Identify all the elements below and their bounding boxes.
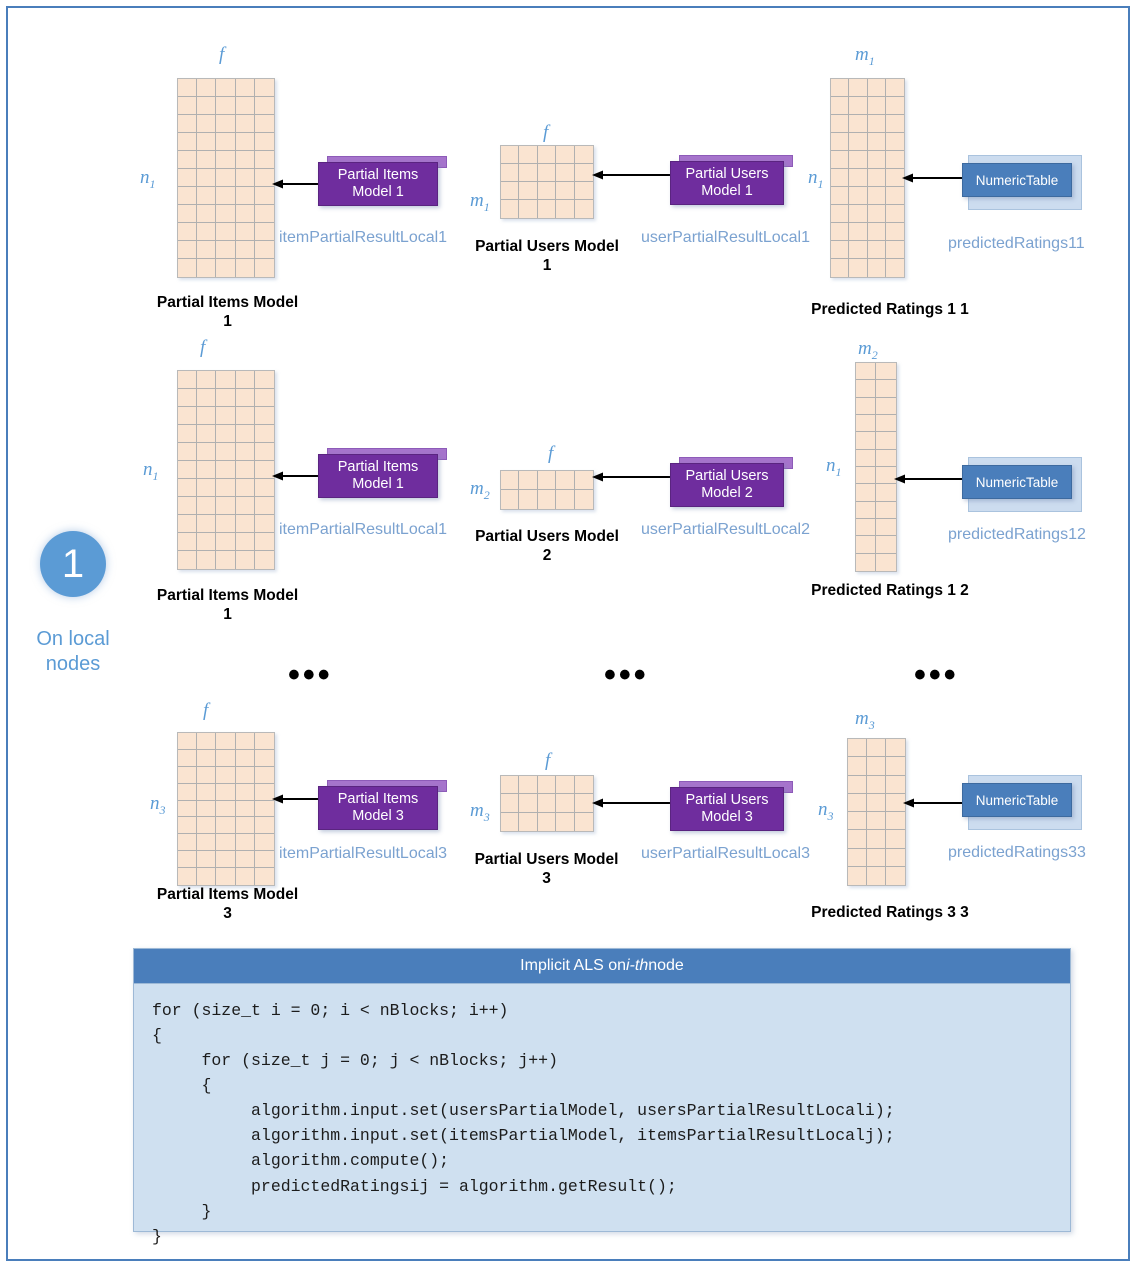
matrix-cell xyxy=(255,834,274,851)
matrix-predicted-ratings-3-3 xyxy=(847,738,906,886)
matrix-cell xyxy=(876,484,896,501)
varlabel-userpartialresultlocal2: userPartialResultLocal2 xyxy=(641,521,810,539)
matrix-cell xyxy=(236,151,255,169)
dim-label-f-users-3: f xyxy=(545,750,550,772)
matrix-cell xyxy=(216,784,235,801)
matrix-cell xyxy=(216,223,235,241)
matrix-cell xyxy=(848,794,867,812)
box-partial-users-model-2[interactable]: Partial Users Model 2 xyxy=(670,457,794,507)
matrix-cell xyxy=(197,750,216,767)
matrix-cell xyxy=(197,515,216,533)
matrix-cell xyxy=(848,757,867,775)
matrix-cell xyxy=(178,868,197,885)
step-badge-number: 1 xyxy=(62,542,84,587)
matrix-cell xyxy=(849,115,867,133)
matrix-cell xyxy=(856,554,876,571)
matrix-cell xyxy=(501,794,519,812)
matrix-cell xyxy=(178,259,197,277)
matrix-cell xyxy=(255,497,274,515)
box-label: Partial Users Model 1 xyxy=(670,161,784,205)
matrix-cell xyxy=(868,133,886,151)
matrix-cell xyxy=(856,536,876,553)
matrix-cell xyxy=(575,182,593,200)
matrix-cell xyxy=(867,830,886,848)
matrix-cell xyxy=(848,830,867,848)
matrix-cell xyxy=(178,187,197,205)
matrix-cell xyxy=(236,205,255,223)
box-partial-items-model-1[interactable]: Partial Items Model 1 xyxy=(318,156,448,206)
caption-partial-items-model-1: Partial Items Model 1 xyxy=(145,293,310,332)
box-numerictable-2[interactable]: NumericTable xyxy=(962,457,1082,512)
matrix-cell xyxy=(856,432,876,449)
matrix-cell xyxy=(236,767,255,784)
matrix-cell xyxy=(831,223,849,241)
matrix-cell xyxy=(831,187,849,205)
matrix-partial-items-model-3 xyxy=(177,732,275,886)
box-label: Partial Items Model 1 xyxy=(318,454,438,498)
matrix-cell xyxy=(856,380,876,397)
matrix-cell xyxy=(831,133,849,151)
arrow-items-1 xyxy=(272,178,320,190)
matrix-cell xyxy=(886,739,905,757)
matrix-cell xyxy=(236,389,255,407)
matrix-cell xyxy=(216,97,235,115)
matrix-cell xyxy=(236,733,255,750)
matrix-cell xyxy=(236,115,255,133)
dim-label-n3-ratings-3: n3 xyxy=(818,799,834,824)
matrix-cell xyxy=(538,794,556,812)
code-title-suffix: node xyxy=(648,957,684,975)
matrix-cell xyxy=(867,794,886,812)
matrix-cell xyxy=(178,205,197,223)
matrix-cell xyxy=(216,115,235,133)
matrix-cell xyxy=(216,801,235,818)
matrix-cell xyxy=(236,97,255,115)
matrix-cell xyxy=(501,146,519,164)
matrix-cell xyxy=(178,443,197,461)
box-partial-users-model-3[interactable]: Partial Users Model 3 xyxy=(670,781,794,831)
matrix-cell xyxy=(236,784,255,801)
matrix-cell xyxy=(197,443,216,461)
varlabel-userpartialresultlocal3: userPartialResultLocal3 xyxy=(641,845,810,863)
matrix-cell xyxy=(876,450,896,467)
matrix-cell xyxy=(556,200,574,218)
matrix-cell xyxy=(868,79,886,97)
matrix-cell xyxy=(216,79,235,97)
ellipsis-items: ••• xyxy=(288,658,333,692)
matrix-cell xyxy=(236,259,255,277)
matrix-cell xyxy=(236,241,255,259)
matrix-cell xyxy=(255,259,274,277)
caption-partial-users-model-2: Partial Users Model 2 xyxy=(468,527,626,566)
matrix-cell xyxy=(868,187,886,205)
code-block-body: for (size_t i = 0; i < nBlocks; i++) { f… xyxy=(134,984,1070,1259)
dim-label-m3-users-3: m3 xyxy=(470,800,490,825)
matrix-cell xyxy=(255,407,274,425)
matrix-cell xyxy=(501,471,519,490)
matrix-cell xyxy=(197,97,216,115)
matrix-cell xyxy=(216,497,235,515)
dim-label-n1-ratings-2: n1 xyxy=(826,455,842,480)
matrix-predicted-ratings-1-2 xyxy=(855,362,897,572)
matrix-cell xyxy=(197,371,216,389)
matrix-cell xyxy=(886,223,904,241)
matrix-cell xyxy=(255,443,274,461)
matrix-cell xyxy=(556,490,574,509)
matrix-cell xyxy=(197,407,216,425)
matrix-cell xyxy=(575,146,593,164)
matrix-cell xyxy=(197,767,216,784)
matrix-cell xyxy=(575,776,593,794)
arrow-items-3 xyxy=(272,793,320,805)
arrow-items-2 xyxy=(272,470,320,482)
matrix-cell xyxy=(178,533,197,551)
matrix-cell xyxy=(216,750,235,767)
matrix-cell xyxy=(255,425,274,443)
matrix-cell xyxy=(849,79,867,97)
matrix-cell xyxy=(178,515,197,533)
matrix-cell xyxy=(197,817,216,834)
matrix-cell xyxy=(178,115,197,133)
matrix-cell xyxy=(236,868,255,885)
matrix-cell xyxy=(876,363,896,380)
matrix-cell xyxy=(178,97,197,115)
matrix-cell xyxy=(216,169,235,187)
matrix-cell xyxy=(556,164,574,182)
matrix-cell xyxy=(876,554,896,571)
matrix-cell xyxy=(519,813,537,831)
matrix-cell xyxy=(236,133,255,151)
matrix-cell xyxy=(856,519,876,536)
matrix-cell xyxy=(538,776,556,794)
matrix-cell xyxy=(867,776,886,794)
ellipsis-users: ••• xyxy=(604,658,649,692)
varlabel-predictedratings11: predictedRatings11 xyxy=(948,235,1085,253)
matrix-cell xyxy=(236,551,255,569)
matrix-cell xyxy=(868,223,886,241)
matrix-cell xyxy=(178,750,197,767)
varlabel-itempartialresultlocal3: itemPartialResultLocal3 xyxy=(279,845,447,863)
matrix-cell xyxy=(255,533,274,551)
matrix-cell xyxy=(831,97,849,115)
matrix-cell xyxy=(831,205,849,223)
arrow-ratings-1 xyxy=(902,172,964,184)
matrix-cell xyxy=(216,205,235,223)
matrix-cell xyxy=(538,146,556,164)
matrix-cell xyxy=(178,767,197,784)
matrix-cell xyxy=(886,97,904,115)
matrix-cell xyxy=(519,164,537,182)
matrix-cell xyxy=(178,133,197,151)
matrix-cell xyxy=(236,497,255,515)
matrix-cell xyxy=(856,502,876,519)
matrix-cell xyxy=(255,223,274,241)
matrix-cell xyxy=(216,187,235,205)
matrix-cell xyxy=(197,169,216,187)
matrix-cell xyxy=(538,471,556,490)
caption-partial-users-model-3: Partial Users Model 3 xyxy=(464,850,629,889)
dim-label-m2-ratings-2: m2 xyxy=(858,338,878,363)
matrix-cell xyxy=(848,812,867,830)
box-label: NumericTable xyxy=(962,783,1072,817)
matrix-cell xyxy=(255,515,274,533)
matrix-cell xyxy=(255,115,274,133)
matrix-cell xyxy=(255,551,274,569)
matrix-cell xyxy=(236,169,255,187)
matrix-cell xyxy=(519,794,537,812)
matrix-cell xyxy=(575,164,593,182)
matrix-cell xyxy=(856,450,876,467)
matrix-cell xyxy=(197,834,216,851)
box-label: Partial Users Model 3 xyxy=(670,787,784,831)
matrix-cell xyxy=(255,97,274,115)
matrix-cell xyxy=(178,784,197,801)
matrix-cell xyxy=(867,867,886,885)
matrix-partial-items-model-2 xyxy=(177,370,275,570)
matrix-cell xyxy=(216,479,235,497)
matrix-cell xyxy=(178,425,197,443)
matrix-cell xyxy=(556,813,574,831)
matrix-cell xyxy=(178,733,197,750)
dim-label-n1-items-2: n1 xyxy=(143,459,159,484)
matrix-cell xyxy=(197,479,216,497)
matrix-cell xyxy=(886,849,905,867)
matrix-cell xyxy=(197,801,216,818)
matrix-cell xyxy=(856,415,876,432)
matrix-cell xyxy=(876,502,896,519)
matrix-cell xyxy=(876,398,896,415)
matrix-cell xyxy=(575,200,593,218)
matrix-cell xyxy=(538,813,556,831)
dim-label-f-items-1: f xyxy=(219,44,224,66)
matrix-cell xyxy=(876,432,896,449)
matrix-cell xyxy=(519,471,537,490)
matrix-cell xyxy=(886,133,904,151)
matrix-cell xyxy=(197,425,216,443)
box-numerictable-1[interactable]: NumericTable xyxy=(962,155,1082,210)
matrix-cell xyxy=(886,757,905,775)
matrix-cell xyxy=(216,151,235,169)
matrix-cell xyxy=(849,133,867,151)
matrix-cell xyxy=(556,794,574,812)
matrix-cell xyxy=(831,259,849,277)
matrix-cell xyxy=(255,151,274,169)
matrix-cell xyxy=(831,151,849,169)
box-label: Partial Items Model 3 xyxy=(318,786,438,830)
matrix-cell xyxy=(178,223,197,241)
matrix-cell xyxy=(236,223,255,241)
matrix-cell xyxy=(886,187,904,205)
matrix-cell xyxy=(556,471,574,490)
matrix-cell xyxy=(178,851,197,868)
matrix-cell xyxy=(197,115,216,133)
matrix-cell xyxy=(519,146,537,164)
matrix-cell xyxy=(501,490,519,509)
caption-predicted-ratings-3-3: Predicted Ratings 3 3 xyxy=(790,903,990,922)
matrix-cell xyxy=(255,851,274,868)
matrix-cell xyxy=(849,151,867,169)
matrix-cell xyxy=(856,363,876,380)
matrix-cell xyxy=(216,767,235,784)
matrix-cell xyxy=(868,151,886,169)
matrix-cell xyxy=(216,133,235,151)
matrix-cell xyxy=(856,484,876,501)
matrix-cell xyxy=(849,259,867,277)
dim-label-f-users-1: f xyxy=(543,122,548,144)
matrix-cell xyxy=(868,205,886,223)
matrix-partial-users-model-2 xyxy=(500,470,594,510)
matrix-cell xyxy=(519,182,537,200)
code-title-prefix: Implicit ALS on xyxy=(520,957,626,975)
matrix-cell xyxy=(831,241,849,259)
matrix-cell xyxy=(501,182,519,200)
matrix-cell xyxy=(255,817,274,834)
matrix-cell xyxy=(849,241,867,259)
matrix-cell xyxy=(216,817,235,834)
matrix-cell xyxy=(197,784,216,801)
matrix-cell xyxy=(216,868,235,885)
varlabel-predictedratings12: predictedRatings12 xyxy=(948,526,1086,544)
matrix-cell xyxy=(197,223,216,241)
matrix-cell xyxy=(831,79,849,97)
matrix-cell xyxy=(856,467,876,484)
matrix-cell xyxy=(216,443,235,461)
matrix-cell xyxy=(501,776,519,794)
code-block: Implicit ALS on i-th node for (size_t i … xyxy=(133,948,1071,1232)
box-partial-items-model-3[interactable]: Partial Items Model 3 xyxy=(318,780,448,830)
matrix-cell xyxy=(197,868,216,885)
matrix-cell xyxy=(236,79,255,97)
matrix-cell xyxy=(197,241,216,259)
matrix-cell xyxy=(236,515,255,533)
matrix-cell xyxy=(216,851,235,868)
matrix-cell xyxy=(236,443,255,461)
matrix-cell xyxy=(216,407,235,425)
diagram-page: f n1 Partial Items Model 1 Partial Items… xyxy=(0,0,1136,1267)
matrix-cell xyxy=(178,241,197,259)
matrix-cell xyxy=(178,817,197,834)
matrix-cell xyxy=(178,801,197,818)
matrix-cell xyxy=(849,223,867,241)
dim-label-f-items-3: f xyxy=(203,700,208,722)
matrix-cell xyxy=(848,867,867,885)
matrix-cell xyxy=(575,471,593,490)
matrix-cell xyxy=(876,519,896,536)
matrix-cell xyxy=(575,813,593,831)
matrix-cell xyxy=(876,536,896,553)
matrix-cell xyxy=(886,830,905,848)
matrix-cell xyxy=(255,868,274,885)
matrix-cell xyxy=(178,389,197,407)
matrix-cell xyxy=(178,461,197,479)
matrix-cell xyxy=(255,733,274,750)
matrix-cell xyxy=(538,182,556,200)
matrix-cell xyxy=(848,776,867,794)
matrix-cell xyxy=(538,200,556,218)
matrix-cell xyxy=(886,115,904,133)
box-label: NumericTable xyxy=(962,465,1072,499)
matrix-cell xyxy=(556,182,574,200)
box-label: Partial Users Model 2 xyxy=(670,463,784,507)
matrix-cell xyxy=(197,733,216,750)
matrix-cell xyxy=(236,851,255,868)
caption-predicted-ratings-1-1: Predicted Ratings 1 1 xyxy=(790,300,990,319)
matrix-cell xyxy=(848,849,867,867)
matrix-cell xyxy=(178,551,197,569)
box-partial-users-model-1[interactable]: Partial Users Model 1 xyxy=(670,155,794,205)
matrix-cell xyxy=(849,205,867,223)
matrix-cell xyxy=(849,187,867,205)
dim-label-n3-items-3: n3 xyxy=(150,793,166,818)
matrix-cell xyxy=(255,79,274,97)
matrix-cell xyxy=(216,834,235,851)
box-partial-items-model-2[interactable]: Partial Items Model 1 xyxy=(318,448,448,498)
box-label: Partial Items Model 1 xyxy=(318,162,438,206)
matrix-cell xyxy=(868,259,886,277)
dim-label-n1-items-1: n1 xyxy=(140,167,156,192)
matrix-cell xyxy=(849,97,867,115)
dim-label-m1-users-1: m1 xyxy=(470,190,490,215)
arrow-ratings-2 xyxy=(894,473,964,485)
matrix-cell xyxy=(848,739,867,757)
matrix-cell xyxy=(255,205,274,223)
matrix-cell xyxy=(236,371,255,389)
matrix-cell xyxy=(868,169,886,187)
matrix-cell xyxy=(886,776,905,794)
matrix-cell xyxy=(197,133,216,151)
ellipsis-ratings: ••• xyxy=(914,658,959,692)
matrix-partial-users-model-3 xyxy=(500,775,594,832)
matrix-cell xyxy=(197,389,216,407)
matrix-cell xyxy=(501,813,519,831)
matrix-cell xyxy=(501,164,519,182)
caption-partial-items-model-2: Partial Items Model 1 xyxy=(145,586,310,625)
matrix-partial-items-model-1 xyxy=(177,78,275,278)
matrix-cell xyxy=(538,490,556,509)
matrix-cell xyxy=(856,398,876,415)
matrix-cell xyxy=(197,205,216,223)
matrix-cell xyxy=(178,834,197,851)
dim-label-m1-ratings-1: m1 xyxy=(855,44,875,69)
matrix-cell xyxy=(831,115,849,133)
varlabel-userpartialresultlocal1: userPartialResultLocal1 xyxy=(641,229,810,247)
caption-partial-items-model-3: Partial Items Model 3 xyxy=(145,885,310,924)
matrix-cell xyxy=(255,389,274,407)
matrix-cell xyxy=(197,79,216,97)
matrix-cell xyxy=(519,200,537,218)
arrow-users-1 xyxy=(592,169,672,181)
matrix-cell xyxy=(538,164,556,182)
matrix-cell xyxy=(178,371,197,389)
matrix-cell xyxy=(236,407,255,425)
matrix-cell xyxy=(255,767,274,784)
matrix-cell xyxy=(197,461,216,479)
matrix-cell xyxy=(197,497,216,515)
matrix-cell xyxy=(876,380,896,397)
matrix-cell xyxy=(216,241,235,259)
matrix-cell xyxy=(197,851,216,868)
matrix-cell xyxy=(575,490,593,509)
varlabel-itempartialresultlocal1-row2: itemPartialResultLocal1 xyxy=(279,521,447,539)
step-badge-label: On local nodes xyxy=(12,627,134,677)
matrix-cell xyxy=(831,169,849,187)
matrix-cell xyxy=(216,425,235,443)
dim-label-f-users-2: f xyxy=(548,443,553,465)
matrix-cell xyxy=(236,187,255,205)
matrix-cell xyxy=(178,407,197,425)
matrix-cell xyxy=(216,733,235,750)
box-numerictable-3[interactable]: NumericTable xyxy=(962,775,1082,830)
